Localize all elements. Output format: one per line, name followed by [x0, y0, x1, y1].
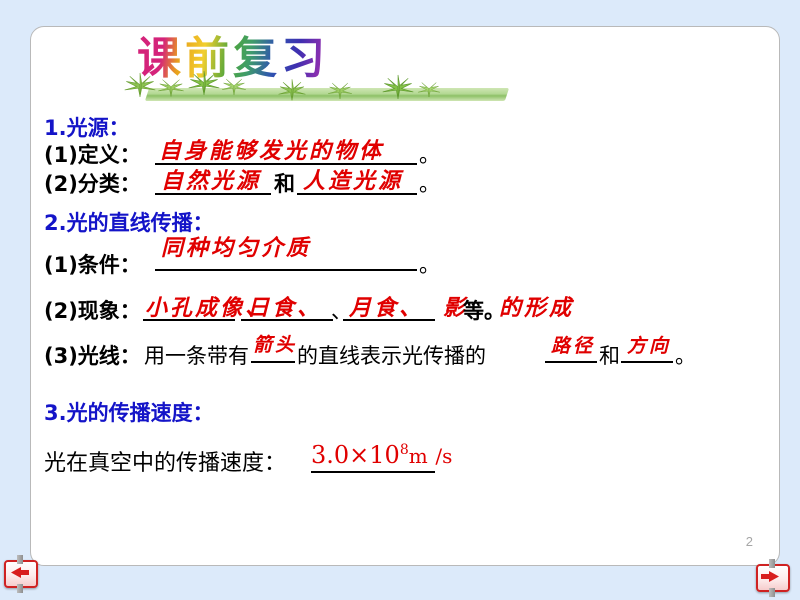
speed-value-exponent: 8	[400, 442, 409, 458]
speed-value-unit2: s	[442, 444, 452, 468]
speed-of-light-value: 3.0×108m /s	[311, 441, 452, 469]
sign-post-bottom	[769, 588, 775, 597]
section-2-item-3-blank-b	[545, 361, 597, 363]
section-2-item-1-blank	[155, 269, 417, 271]
section-1-item-2-label: (2)分类：	[44, 168, 141, 198]
maple-leaf-icon	[187, 69, 221, 95]
section-3-item-1-label: 光在真空中的传播速度：	[44, 445, 286, 477]
section-2-item-3-text-a: 用一条带有	[144, 340, 249, 370]
section-2-item-3-label: (3)光线：	[44, 340, 141, 370]
section-1-item-2-conjunction: 和	[274, 168, 295, 198]
section-2-item-2-answer-2: 日食、	[247, 290, 322, 322]
section-2-item-2-answer-3: 月食、	[349, 290, 424, 322]
section-2-item-2-blank-2	[241, 319, 333, 321]
section-2-item-2-blank-1	[143, 319, 235, 321]
section-2-item-3-answer-b: 路径	[551, 331, 595, 358]
maple-leaf-icon	[417, 79, 441, 97]
section-1-item-2-blank-b	[297, 193, 417, 195]
section-2-item-3-period: 。	[675, 340, 696, 370]
section-1-heading: 1.光源：	[44, 112, 130, 142]
section-2-item-3-blank-a	[251, 361, 295, 363]
section-1-item-2-blank-a	[155, 193, 271, 195]
section-2-item-1-label: (1)条件：	[44, 249, 141, 279]
maple-leaf-icon	[221, 75, 247, 95]
speed-value-base: 3.0×10	[311, 441, 400, 469]
section-1-item-1-period: 。	[419, 139, 440, 169]
slide-panel: 课前复习 课前复习	[30, 26, 780, 566]
maple-leaf-icon	[327, 79, 353, 99]
section-1-item-2-answer-b: 人造光源	[303, 163, 403, 195]
maple-leaf-icon	[277, 77, 307, 101]
sign-post-bottom	[17, 584, 23, 593]
section-2-item-2-answer-5: 的形成	[499, 290, 574, 322]
arrow-right-icon	[758, 566, 784, 586]
page-number: 2	[746, 534, 753, 549]
section-2-item-1-answer: 同种均匀介质	[161, 230, 311, 262]
section-2-item-2-blank-3	[343, 319, 435, 321]
section-1-item-1-label: (1)定义：	[44, 139, 141, 169]
section-2-item-3-blank-c	[621, 361, 673, 363]
section-2-item-2-label: (2)现象：	[44, 295, 141, 325]
section-2-item-3-answer-a: 箭头	[253, 330, 297, 357]
maple-leaf-icon	[157, 75, 185, 97]
maple-leaf-icon	[381, 73, 415, 99]
maple-leaf-icon	[123, 71, 157, 97]
section-2-item-3-conjunction: 和	[599, 340, 620, 370]
arrow-left-icon	[6, 562, 32, 582]
section-1-item-2-period: 。	[419, 168, 440, 198]
section-3-heading: 3.光的传播速度：	[44, 397, 214, 427]
section-2-item-1-period: 。	[419, 249, 440, 279]
section-1-item-2-answer-a: 自然光源	[161, 163, 261, 195]
section-2-item-3-answer-c: 方向	[627, 331, 671, 358]
next-slide-button[interactable]	[756, 564, 790, 592]
speed-value-unit: m	[409, 444, 428, 468]
previous-slide-button[interactable]	[4, 560, 38, 588]
section-1-item-1-answer: 自身能够发光的物体	[159, 133, 384, 165]
slide-title-block: 课前复习 课前复习	[109, 31, 529, 111]
section-2-item-3-text-b: 的直线表示光传播的	[297, 340, 486, 370]
